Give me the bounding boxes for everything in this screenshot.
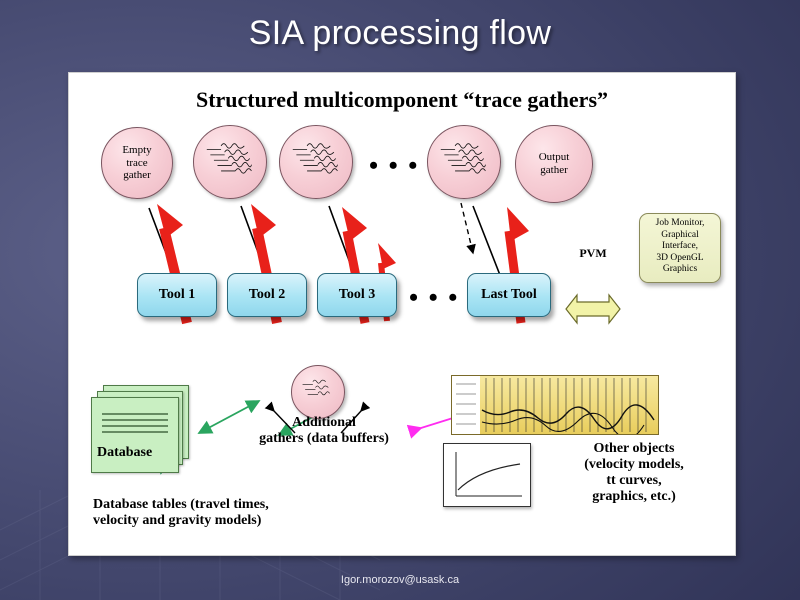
gather-label: Output gather	[539, 151, 570, 176]
gathers-ellipsis: • • •	[369, 151, 419, 181]
trace-squiggles-icon	[203, 137, 257, 187]
trace-squiggles-icon	[298, 374, 338, 410]
additional-gathers-circle[interactable]	[291, 365, 345, 419]
curve-icon	[444, 444, 530, 506]
seismic-traces-icon	[452, 376, 658, 434]
tool-label: Tool 2	[249, 287, 285, 303]
footer-email: Igor.morozov@usask.ca	[0, 574, 800, 586]
gather-4[interactable]	[427, 125, 501, 199]
tool-label: Tool 1	[159, 287, 195, 303]
trace-squiggles-icon	[289, 137, 343, 187]
additional-gathers-label: Additional gathers (data buffers)	[229, 415, 419, 447]
database-tables-label: Database tables (travel times, velocity …	[93, 497, 393, 529]
tools-ellipsis: • • •	[409, 283, 459, 313]
figure-title: Structured multicomponent “trace gathers…	[69, 87, 735, 113]
gather-output-gather[interactable]: Output gather	[515, 125, 593, 203]
trace-squiggles-icon	[437, 137, 491, 187]
tool-tool-2[interactable]: Tool 2	[227, 273, 307, 317]
tool-last-tool[interactable]: Last Tool	[467, 273, 551, 317]
other-objects-label: Other objects (velocity models, tt curve…	[539, 441, 729, 505]
database-label: Database	[97, 445, 152, 461]
slide: SIA processing flow Structured multicomp…	[0, 0, 800, 600]
database-sheet-front[interactable]	[91, 397, 179, 473]
tt-curve-plot[interactable]	[443, 443, 531, 507]
tool-label: Tool 3	[339, 287, 375, 303]
tool-label: Last Tool	[481, 287, 537, 303]
gather-3[interactable]	[279, 125, 353, 199]
pvm-label: PVM	[573, 247, 613, 261]
gather-2[interactable]	[193, 125, 267, 199]
tool-tool-1[interactable]: Tool 1	[137, 273, 217, 317]
diagram-figure: Structured multicomponent “trace gathers…	[68, 72, 736, 556]
job-monitor-box[interactable]: Job Monitor, Graphical Interface, 3D Ope…	[639, 213, 721, 283]
tool-tool-3[interactable]: Tool 3	[317, 273, 397, 317]
gather-label: Empty trace gather	[122, 144, 151, 182]
pvm-double-arrow	[566, 295, 620, 323]
seismic-section-image[interactable]	[451, 375, 659, 435]
page-title: SIA processing flow	[0, 14, 800, 53]
gather-empty-trace-gather[interactable]: Empty trace gather	[101, 127, 173, 199]
